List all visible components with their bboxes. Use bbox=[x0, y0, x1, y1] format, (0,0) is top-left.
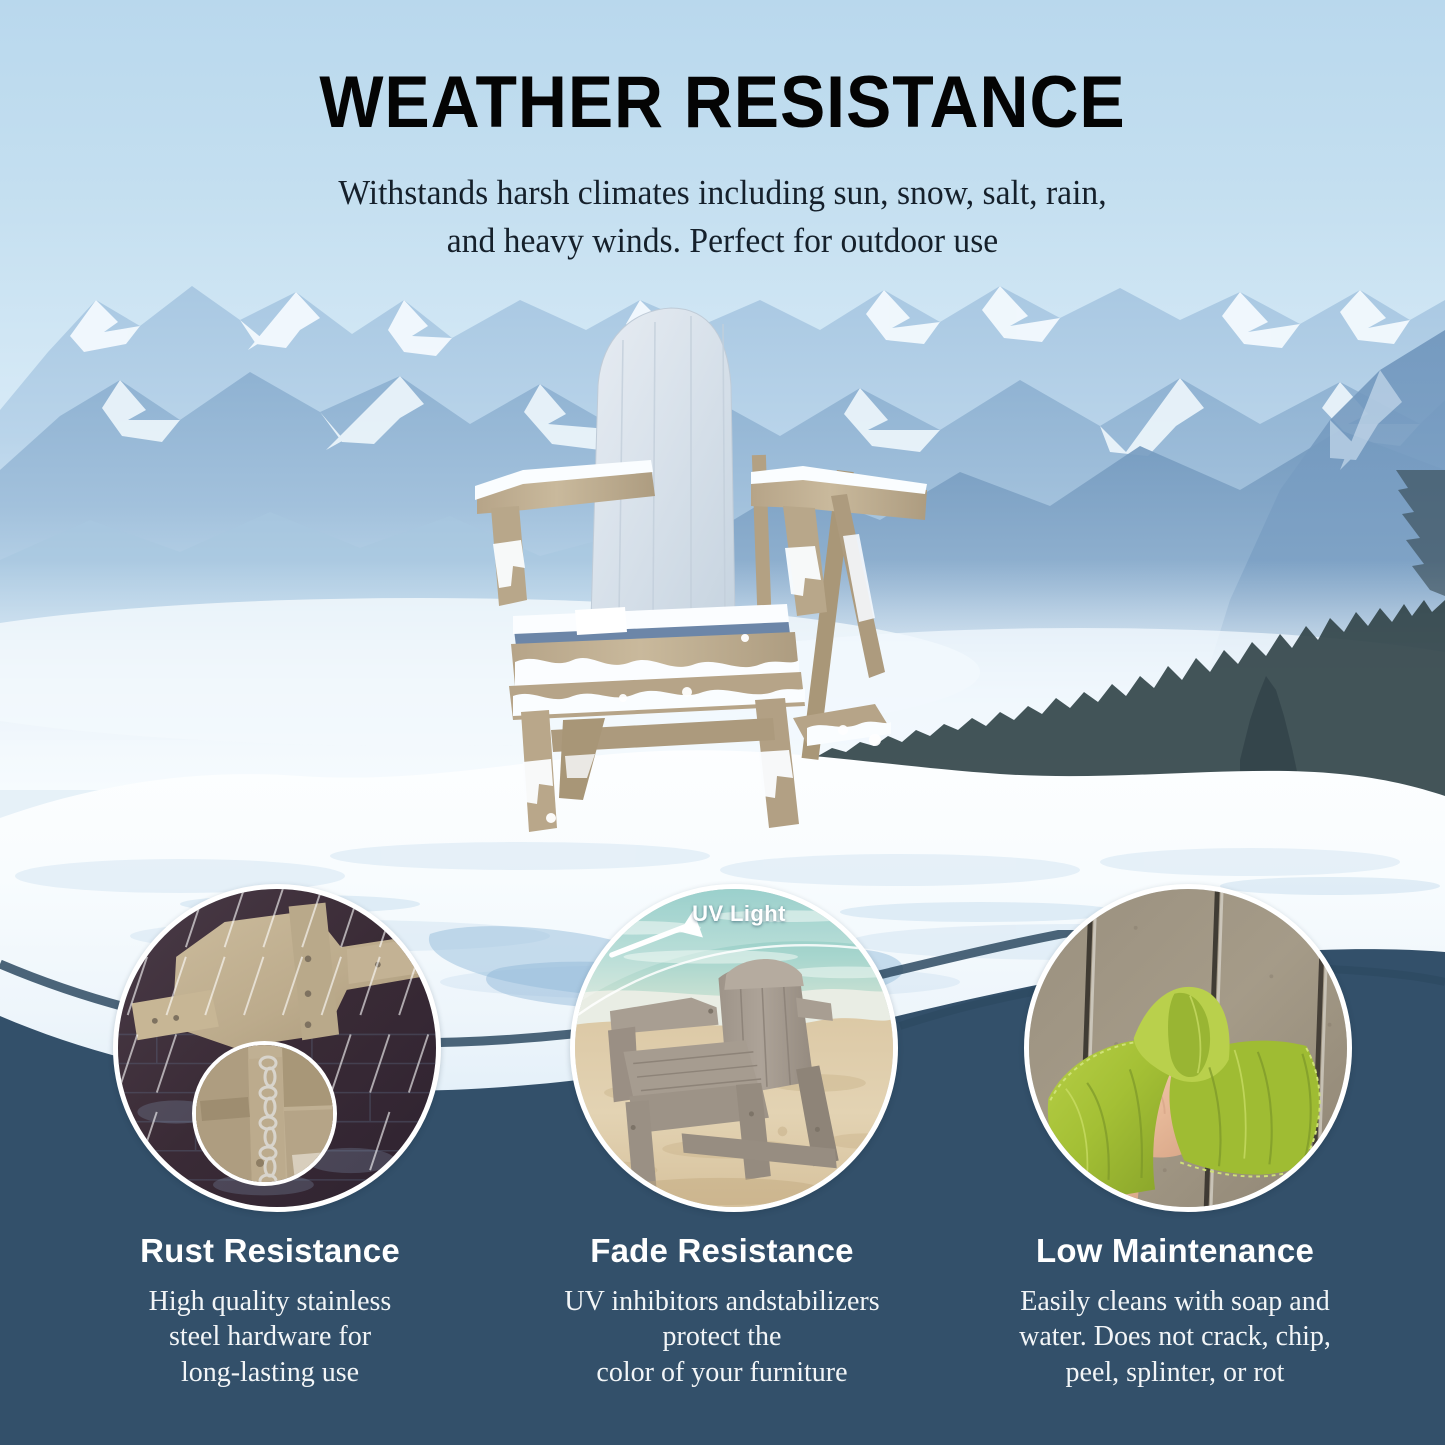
feature-text-low-maintenance: Low Maintenance Easily cleans with soap … bbox=[960, 1232, 1390, 1390]
feature-desc-line-3: color of your furniture bbox=[507, 1355, 937, 1390]
feature-title-low-maintenance: Low Maintenance bbox=[960, 1232, 1390, 1270]
feature-desc-rust-resistance: High quality stainless steel hardware fo… bbox=[55, 1284, 485, 1390]
feature-desc-line-2: steel hardware for bbox=[55, 1319, 485, 1354]
feature-circle-fade-resistance[interactable]: UV Light bbox=[570, 884, 898, 1212]
feature-desc-low-maintenance: Easily cleans with soap and water. Does … bbox=[960, 1284, 1390, 1390]
feature-desc-line-3: peel, splinter, or rot bbox=[960, 1355, 1390, 1390]
chain-hardware-detail-inset bbox=[192, 1041, 337, 1186]
header-block: WEATHER RESISTANCE Withstands harsh clim… bbox=[0, 66, 1445, 264]
feature-text-fade-resistance: Fade Resistance UV inhibitors andstabili… bbox=[507, 1232, 937, 1390]
feature-title-fade-resistance: Fade Resistance bbox=[507, 1232, 937, 1270]
feature-desc-line-1: UV inhibitors andstabilizers bbox=[507, 1284, 937, 1319]
feature-desc-line-3: long-lasting use bbox=[55, 1355, 485, 1390]
feature-text-group: Rust Resistance High quality stainless s… bbox=[0, 1232, 1445, 1442]
subtitle-line-1: Withstands harsh climates including sun,… bbox=[29, 169, 1416, 217]
feature-desc-line-2: water. Does not crack, chip, bbox=[960, 1319, 1390, 1354]
low-maintenance-image bbox=[1029, 889, 1347, 1207]
feature-desc-line-1: High quality stainless bbox=[55, 1284, 485, 1319]
infographic-canvas: WEATHER RESISTANCE Withstands harsh clim… bbox=[0, 0, 1445, 1445]
page-subtitle: Withstands harsh climates including sun,… bbox=[29, 169, 1416, 264]
subtitle-line-2: and heavy winds. Perfect for outdoor use bbox=[29, 217, 1416, 265]
feature-circle-low-maintenance[interactable] bbox=[1024, 884, 1352, 1212]
fade-resistance-image bbox=[575, 889, 893, 1207]
feature-title-rust-resistance: Rust Resistance bbox=[55, 1232, 485, 1270]
uv-light-label: UV Light bbox=[619, 901, 859, 927]
feature-text-rust-resistance: Rust Resistance High quality stainless s… bbox=[55, 1232, 485, 1390]
feature-desc-line-1: Easily cleans with soap and bbox=[960, 1284, 1390, 1319]
feature-desc-line-2: protect the bbox=[507, 1319, 937, 1354]
feature-desc-fade-resistance: UV inhibitors andstabilizers protect the… bbox=[507, 1284, 937, 1390]
feature-circle-rust-resistance[interactable] bbox=[113, 884, 441, 1212]
page-title: WEATHER RESISTANCE bbox=[51, 66, 1395, 139]
